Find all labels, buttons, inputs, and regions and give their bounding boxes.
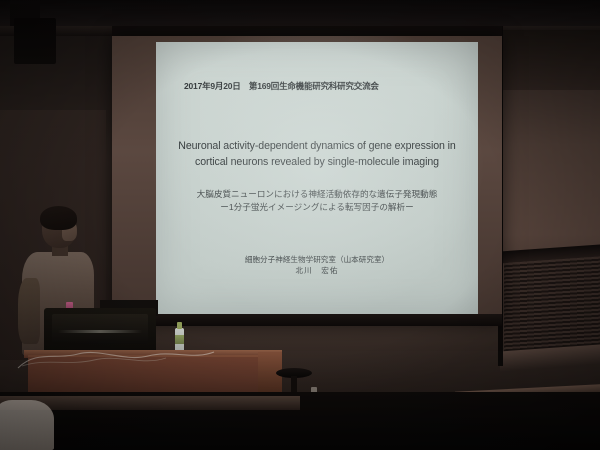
chair-left-foreground (0, 400, 54, 450)
water-bottle-label (175, 335, 184, 344)
slide-header-date-event: 2017年9月20日 第169回生命機能研究科研究交流会 (184, 80, 379, 92)
laptop-screen-glow (58, 330, 142, 333)
slide-presenter-name: 北川 宏佑 (156, 265, 478, 276)
slide-title-line-2: cortical neurons revealed by single-mole… (172, 154, 462, 170)
wall-vent-grille-icon (504, 257, 600, 356)
slide-subtitle-line-1: 大脳皮質ニューロンにおける神経活動依存的な遺伝子発現動態 (174, 188, 460, 201)
right-wall-upper-shadow (500, 30, 600, 90)
ceiling-speaker-icon (14, 18, 56, 64)
lecture-hall-photo: 2017年9月20日 第169回生命機能研究科研究交流会 Neuronal ac… (0, 0, 600, 450)
presentation-slide: 2017年9月20日 第169回生命機能研究科研究交流会 Neuronal ac… (156, 42, 478, 314)
slide-subtitle: 大脳皮質ニューロンにおける神経活動依存的な遺伝子発現動態 ー1分子蛍光イメージン… (156, 188, 478, 214)
slide-title-line-1: Neuronal activity-dependent dynamics of … (172, 138, 462, 154)
presenter-hair (40, 206, 77, 230)
water-bottle-cap (177, 322, 182, 329)
laptop-screen (52, 314, 148, 344)
slide-subtitle-line-2: ー1分子蛍光イメージングによる転写因子の解析ー (174, 201, 460, 214)
presenter-arm (18, 278, 40, 344)
slide-affiliation: 細胞分子神経生物学研究室（山本研究室） (156, 254, 478, 265)
slide-title: Neuronal activity-dependent dynamics of … (156, 138, 478, 170)
